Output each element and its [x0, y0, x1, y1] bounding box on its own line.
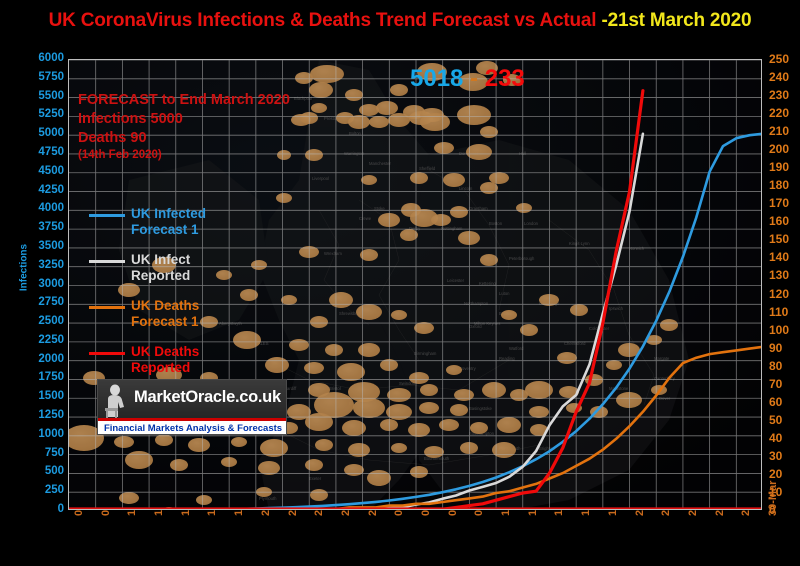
y-tick-left-250: 250 — [20, 485, 64, 497]
watermark-title: MarketOracle.co.uk — [134, 388, 281, 407]
legend-swatch-uk-deaths-reported — [89, 352, 125, 355]
y-tick-right-90: 90 — [769, 342, 800, 354]
watermark-logo: MarketOracle.co.uk Financial Markets Ana… — [97, 379, 287, 435]
legend-label-line-2: Reported — [131, 268, 190, 284]
y-tick-left-1000: 1000 — [20, 429, 64, 441]
y-tick-right-240: 240 — [769, 71, 800, 83]
y-tick-left-5500: 5500 — [20, 91, 64, 103]
legend-label-line-2: Reported — [131, 360, 199, 376]
y-tick-left-4000: 4000 — [20, 203, 64, 215]
legend-label-uk-deaths-reported: UK DeathsReported — [131, 344, 199, 376]
legend-label-line-2: Forecast 1 — [131, 222, 206, 238]
headline-infections: 5018 — [410, 65, 463, 92]
legend-swatch-uk-infect-reported — [89, 260, 125, 263]
legend-label-line-1: UK Deaths — [131, 298, 199, 314]
legend-label-uk-infect-reported: UK InfectReported — [131, 252, 190, 284]
y-tick-left-3750: 3750 — [20, 222, 64, 234]
y-tick-left-6000: 6000 — [20, 53, 64, 65]
y-tick-right-40: 40 — [769, 432, 800, 444]
y-tick-right-80: 80 — [769, 360, 800, 372]
legend-swatch-uk-deaths-forecast-1 — [89, 306, 125, 309]
y-tick-left-5250: 5250 — [20, 109, 64, 121]
y-tick-right-230: 230 — [769, 89, 800, 101]
y-tick-left-2500: 2500 — [20, 316, 64, 328]
y-tick-left-1500: 1500 — [20, 391, 64, 403]
plot-area: PrestonLiverpoolManchesterLeedsSheffield… — [68, 59, 762, 510]
watermark-subtitle: Financial Markets Analysis & Forecasts — [98, 421, 287, 435]
y-tick-right-100: 100 — [769, 324, 800, 336]
y-tick-right-170: 170 — [769, 197, 800, 209]
case-bubble-120 — [90, 509, 108, 510]
page-title-main: UK CoronaVirus Infections & Deaths Trend… — [49, 10, 602, 31]
legend-label-uk-deaths-forecast-1: UK DeathsForecast 1 — [131, 298, 199, 330]
y-tick-left-5750: 5750 — [20, 72, 64, 84]
y-tick-right-220: 220 — [769, 107, 800, 119]
y-tick-left-4250: 4250 — [20, 185, 64, 197]
page-title: UK CoronaVirus Infections & Deaths Trend… — [0, 10, 800, 32]
map-scrim — [69, 60, 762, 510]
headline-numbers: 5018 - 233 — [410, 65, 525, 93]
y-tick-left-1750: 1750 — [20, 372, 64, 384]
person-at-desk-icon — [102, 383, 132, 419]
y-tick-right-200: 200 — [769, 143, 800, 155]
legend-label-line-1: UK Infected — [131, 206, 206, 222]
y-tick-left-4750: 4750 — [20, 147, 64, 159]
y-tick-right-130: 130 — [769, 269, 800, 281]
y-tick-right-210: 210 — [769, 125, 800, 137]
y-tick-left-4500: 4500 — [20, 166, 64, 178]
y-tick-right-60: 60 — [769, 396, 800, 408]
y-tick-right-190: 190 — [769, 161, 800, 173]
y-tick-left-750: 750 — [20, 448, 64, 460]
legend-label-line-1: UK Infect — [131, 252, 190, 268]
y-tick-left-2250: 2250 — [20, 335, 64, 347]
headline-deaths: 233 — [485, 65, 525, 92]
y-tick-left-3500: 3500 — [20, 241, 64, 253]
y-tick-right-250: 250 — [769, 53, 800, 65]
y-tick-left-2750: 2750 — [20, 297, 64, 309]
chart-page: UK CoronaVirus Infections & Deaths Trend… — [0, 0, 800, 566]
y-tick-left-5000: 5000 — [20, 128, 64, 140]
chart-canvas: PrestonLiverpoolManchesterLeedsSheffield… — [69, 60, 762, 510]
y-tick-right-120: 120 — [769, 288, 800, 300]
y-tick-left-0: 0 — [20, 504, 64, 516]
x-tick-30-mar: 30-Mar — [767, 470, 779, 516]
page-title-highlight: -21st March 2020 — [601, 10, 751, 31]
legend-label-uk-infected-forecast-1: UK InfectedForecast 1 — [131, 206, 206, 238]
y-tick-right-70: 70 — [769, 378, 800, 390]
y-tick-right-160: 160 — [769, 215, 800, 227]
y-tick-right-110: 110 — [769, 306, 800, 318]
y-tick-left-3250: 3250 — [20, 260, 64, 272]
y-tick-left-3000: 3000 — [20, 279, 64, 291]
legend-label-line-2: Forecast 1 — [131, 314, 199, 330]
y-tick-left-2000: 2000 — [20, 354, 64, 366]
legend-label-line-1: UK Deaths — [131, 344, 199, 360]
y-tick-right-30: 30 — [769, 450, 800, 462]
legend-swatch-uk-infected-forecast-1 — [89, 214, 125, 217]
y-tick-right-150: 150 — [769, 233, 800, 245]
y-tick-right-50: 50 — [769, 414, 800, 426]
headline-separator: - — [463, 65, 484, 92]
y-tick-right-140: 140 — [769, 251, 800, 263]
y-tick-left-1250: 1250 — [20, 410, 64, 422]
y-tick-left-500: 500 — [20, 466, 64, 478]
y-tick-right-180: 180 — [769, 179, 800, 191]
